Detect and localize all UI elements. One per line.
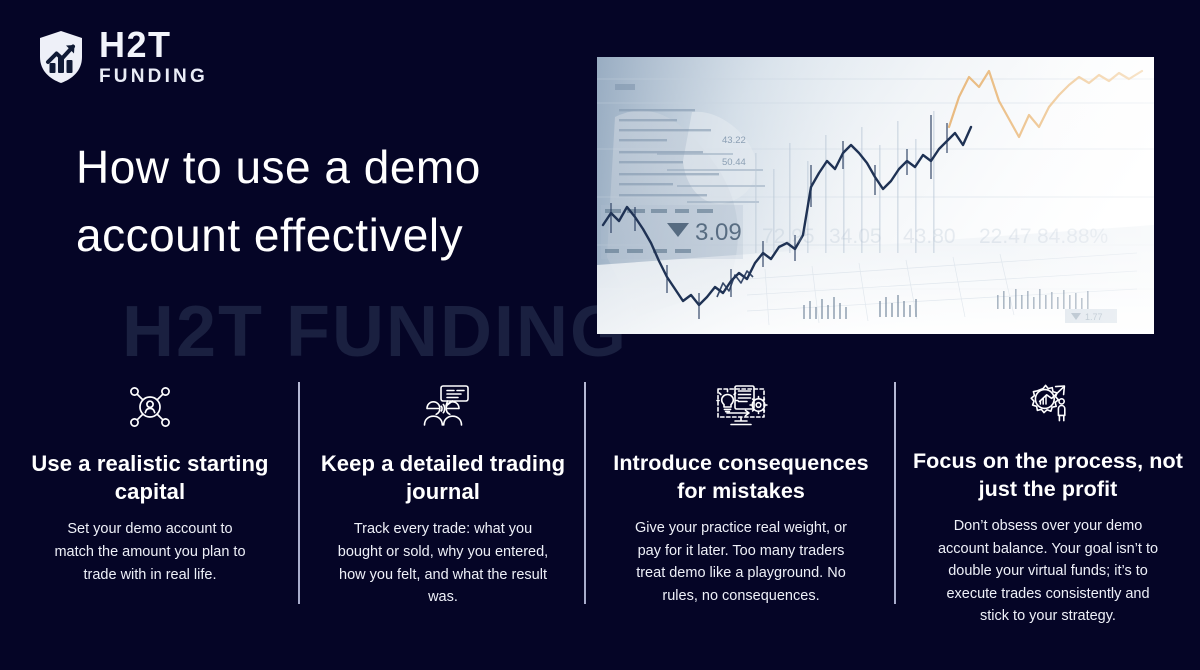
hero-trading-chart-image: x 43.22 50.44 bbox=[597, 57, 1154, 334]
feature-column-2: Keep a detailed trading journal Track ev… bbox=[300, 378, 586, 618]
feature-body: Set your demo account to match the amoun… bbox=[47, 518, 253, 586]
feature-column-3: Introduce consequences for mistakes Give… bbox=[586, 378, 896, 618]
feature-title: Keep a detailed trading journal bbox=[314, 450, 572, 506]
feature-body: Track every trade: what you bought or so… bbox=[337, 518, 549, 608]
brand-logo: H2T FUNDING bbox=[36, 27, 208, 86]
brand-name-secondary: FUNDING bbox=[99, 67, 208, 86]
svg-text:43.80: 43.80 bbox=[903, 225, 956, 248]
user-network-icon bbox=[127, 382, 173, 432]
feature-columns: Use a realistic starting capital Set you… bbox=[0, 378, 1200, 618]
feature-title: Use a realistic starting capital bbox=[14, 450, 286, 506]
svg-text:3.09: 3.09 bbox=[695, 219, 742, 246]
svg-text:50.44: 50.44 bbox=[722, 157, 746, 168]
feature-body: Don’t obsess over your demo account bala… bbox=[930, 515, 1166, 628]
page-title: How to use a demo account effectively bbox=[76, 133, 596, 269]
two-people-chat-icon bbox=[414, 382, 472, 432]
gear-growth-arrow-person-icon bbox=[1022, 382, 1074, 430]
infographic-canvas: H2T FUNDING H2T FUNDING How to use a dem… bbox=[0, 0, 1200, 670]
svg-text:34.05: 34.05 bbox=[829, 225, 882, 248]
shield-growth-chart-icon bbox=[36, 29, 86, 85]
monitor-document-gear-icon bbox=[711, 382, 771, 432]
svg-text:43.22: 43.22 bbox=[722, 135, 746, 146]
feature-body: Give your practice real weight, or pay f… bbox=[633, 517, 849, 607]
svg-text:72.95: 72.95 bbox=[762, 225, 815, 248]
brand-wordmark: H2T FUNDING bbox=[99, 27, 208, 86]
feature-column-1: Use a realistic starting capital Set you… bbox=[0, 378, 300, 618]
feature-title: Introduce consequences for mistakes bbox=[600, 450, 882, 505]
feature-title: Focus on the process, not just the profi… bbox=[910, 448, 1186, 503]
brand-name-primary: H2T bbox=[99, 27, 208, 63]
feature-column-4: Focus on the process, not just the profi… bbox=[896, 378, 1200, 618]
